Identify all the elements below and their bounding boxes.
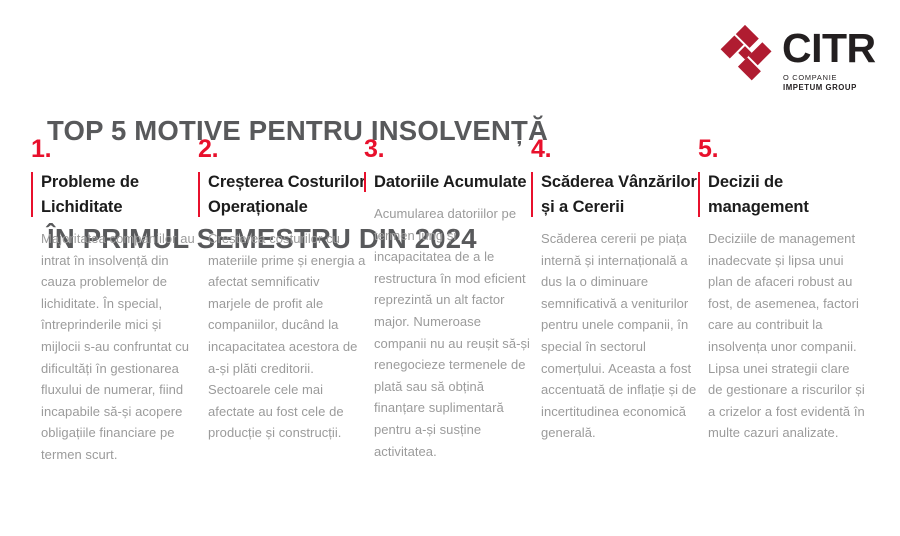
reason-heading-wrap-1: Probleme de Lichiditate (31, 170, 199, 220)
reason-column-5: 5. Decizii de management Deciziile de ma… (698, 136, 866, 444)
reasons-columns: 1. Probleme de Lichiditate Majoritatea c… (0, 136, 900, 536)
reason-heading-5: Decizii de management (708, 170, 866, 220)
reason-number-4: 4. (531, 136, 699, 166)
citr-logo-subtext-line-1: O COMPANIE (783, 73, 900, 83)
reason-heading-wrap-3: Datoriile Acumulate (364, 170, 532, 195)
reason-heading-wrap-2: Creșterea Costurilor Operaționale (198, 170, 366, 220)
red-rule-1 (31, 172, 33, 217)
citr-wordmark: CITR (782, 28, 876, 69)
reason-number-3: 3. (364, 136, 532, 166)
reason-heading-4: Scăderea Vânzărilor și a Cererii (541, 170, 699, 220)
red-rule-4 (531, 172, 533, 217)
reason-heading-1: Probleme de Lichiditate (41, 170, 199, 220)
reason-body-1: Majoritatea companiilor au intrat în ins… (31, 228, 199, 466)
reason-column-4: 4. Scăderea Vânzărilor și a Cererii Scăd… (531, 136, 699, 444)
reason-body-2: Creșterea costurilor cu materiile prime … (198, 228, 366, 444)
reason-column-1: 1. Probleme de Lichiditate Majoritatea c… (31, 136, 199, 466)
reason-number-1: 1. (31, 136, 199, 166)
reason-heading-wrap-4: Scăderea Vânzărilor și a Cererii (531, 170, 699, 220)
reason-column-2: 2. Creșterea Costurilor Operaționale Cre… (198, 136, 366, 444)
reason-body-3: Acumularea datoriilor pe termen lung și … (364, 203, 532, 462)
reason-column-3: 3. Datoriile Acumulate Acumularea datori… (364, 136, 532, 462)
reason-number-5: 5. (698, 136, 866, 166)
reason-heading-2: Creșterea Costurilor Operaționale (208, 170, 366, 220)
reason-heading-wrap-5: Decizii de management (698, 170, 866, 220)
reason-body-4: Scăderea cererii pe piața internă și int… (531, 228, 699, 444)
red-rule-3 (364, 172, 366, 192)
reason-heading-3: Datoriile Acumulate (374, 170, 532, 195)
citr-logo-subtext: O COMPANIE IMPETUM GROUP (783, 73, 900, 93)
citr-logo-subtext-line-2: IMPETUM GROUP (783, 83, 900, 93)
red-rule-2 (198, 172, 200, 217)
red-rule-5 (698, 172, 700, 217)
reason-body-5: Deciziile de management inadecvate și li… (698, 228, 866, 444)
citr-logo: CITR O COMPANIE IMPETUM GROUP (714, 25, 890, 93)
reason-number-2: 2. (198, 136, 366, 166)
citr-pinwheel-diamond-icon (714, 25, 776, 87)
infographic-header: TOP 5 MOTIVE PENTRU INSOLVENȚĂ ÎN PRIMUL… (0, 0, 900, 130)
